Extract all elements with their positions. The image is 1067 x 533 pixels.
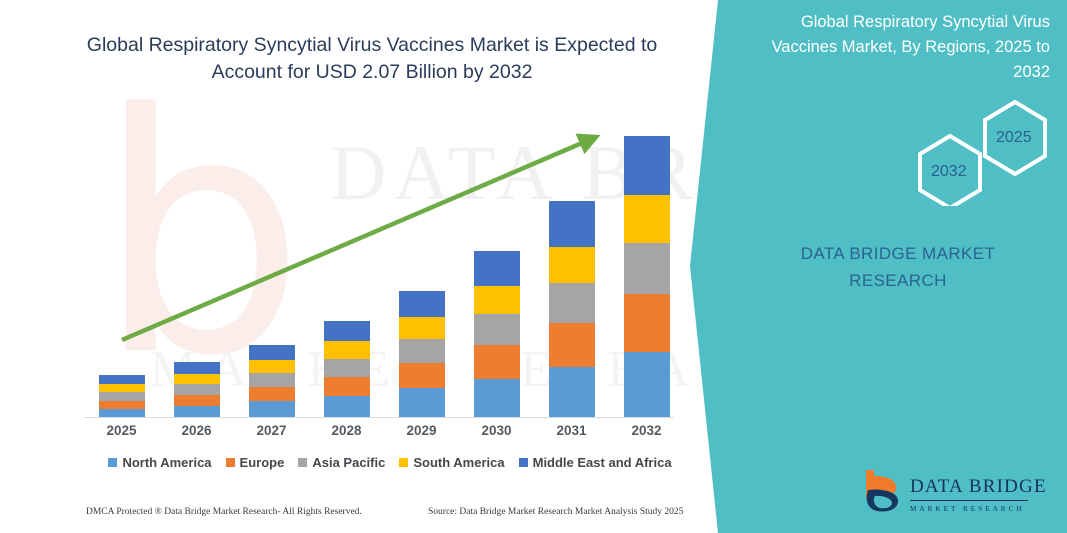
panel-brand: DATA BRIDGE MARKET RESEARCH	[748, 240, 1048, 294]
hexagon-outlines	[800, 96, 1067, 206]
growth-arrow	[84, 118, 684, 418]
logo-subtitle: MARKET RESEARCH	[910, 505, 1047, 513]
x-label-2027: 2027	[237, 423, 307, 438]
legend-swatch-icon	[226, 458, 235, 467]
panel-brand-line1: DATA BRIDGE MARKET	[801, 244, 996, 263]
x-label-2028: 2028	[312, 423, 382, 438]
legend-item-3[interactable]: South America	[399, 455, 504, 470]
legend-swatch-icon	[519, 458, 528, 467]
x-label-2032: 2032	[612, 423, 682, 438]
legend-swatch-icon	[108, 458, 117, 467]
infographic-canvas: b DATA BRIDGE MARKET RESEARCH Global Res…	[0, 0, 1067, 533]
legend-item-2[interactable]: Asia Pacific	[298, 455, 385, 470]
panel-brand-line2: RESEARCH	[849, 271, 947, 290]
footer-source: Source: Data Bridge Market Research Mark…	[428, 507, 683, 517]
x-label-2029: 2029	[387, 423, 457, 438]
legend-item-1[interactable]: Europe	[226, 455, 285, 470]
legend-label: North America	[122, 455, 211, 470]
chart-legend: North AmericaEuropeAsia PacificSouth Ame…	[100, 455, 680, 470]
legend-item-0[interactable]: North America	[108, 455, 211, 470]
legend-label: Europe	[240, 455, 285, 470]
right-panel: Global Respiratory Syncytial Virus Vacci…	[690, 0, 1067, 533]
hexagon-year-2032: 2032	[931, 163, 967, 181]
logo-divider	[910, 500, 1028, 501]
legend-swatch-icon	[298, 458, 307, 467]
legend-swatch-icon	[399, 458, 408, 467]
databridge-logo-mark-icon	[862, 468, 906, 514]
x-axis-labels: 20252026202720282029203020312032	[84, 423, 684, 447]
legend-label: South America	[413, 455, 504, 470]
hexagon-group: 2025 2032	[800, 96, 1067, 206]
databridge-logo: DATA BRIDGE MARKET RESEARCH	[862, 468, 1052, 522]
x-label-2031: 2031	[537, 423, 607, 438]
x-label-2025: 2025	[87, 423, 157, 438]
x-label-2026: 2026	[162, 423, 232, 438]
panel-title: Global Respiratory Syncytial Virus Vacci…	[750, 10, 1050, 85]
legend-label: Asia Pacific	[312, 455, 385, 470]
logo-title: DATA BRIDGE	[910, 476, 1047, 498]
chart-title: Global Respiratory Syncytial Virus Vacci…	[72, 32, 672, 86]
hexagon-year-2025: 2025	[996, 129, 1032, 147]
x-label-2030: 2030	[462, 423, 532, 438]
footer-copyright: DMCA Protected ® Data Bridge Market Rese…	[86, 507, 362, 517]
legend-item-4[interactable]: Middle East and Africa	[519, 455, 672, 470]
databridge-logo-text: DATA BRIDGE MARKET RESEARCH	[910, 476, 1047, 513]
legend-label: Middle East and Africa	[533, 455, 672, 470]
